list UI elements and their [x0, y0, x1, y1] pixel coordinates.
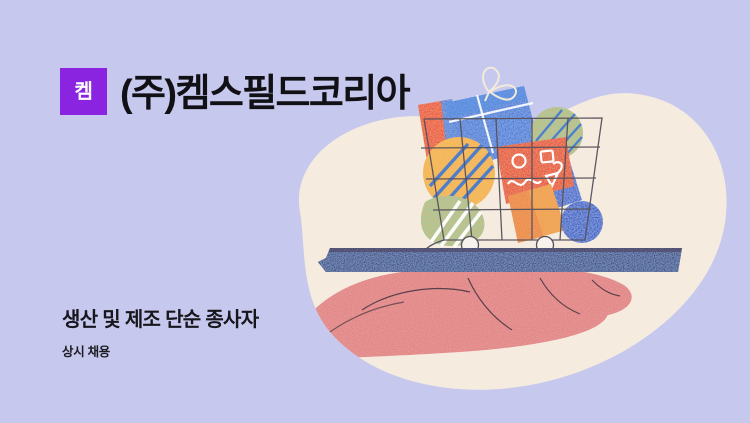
blue-circle — [561, 201, 603, 243]
job-posting-banner: 켐 (주)켐스필드코리아 생산 및 제조 단순 종사자 상시 채용 — [0, 0, 750, 423]
dark-platform-bar — [318, 248, 682, 272]
job-title: 생산 및 제조 단순 종사자 — [62, 307, 258, 333]
job-recruitment-type: 상시 채용 — [62, 343, 110, 361]
company-name: (주)켐스필드코리아 — [120, 72, 409, 116]
illustration-shopping-cart — [0, 0, 750, 423]
company-logo-badge: 켐 — [60, 68, 107, 115]
company-logo-badge-text: 켐 — [75, 82, 93, 102]
